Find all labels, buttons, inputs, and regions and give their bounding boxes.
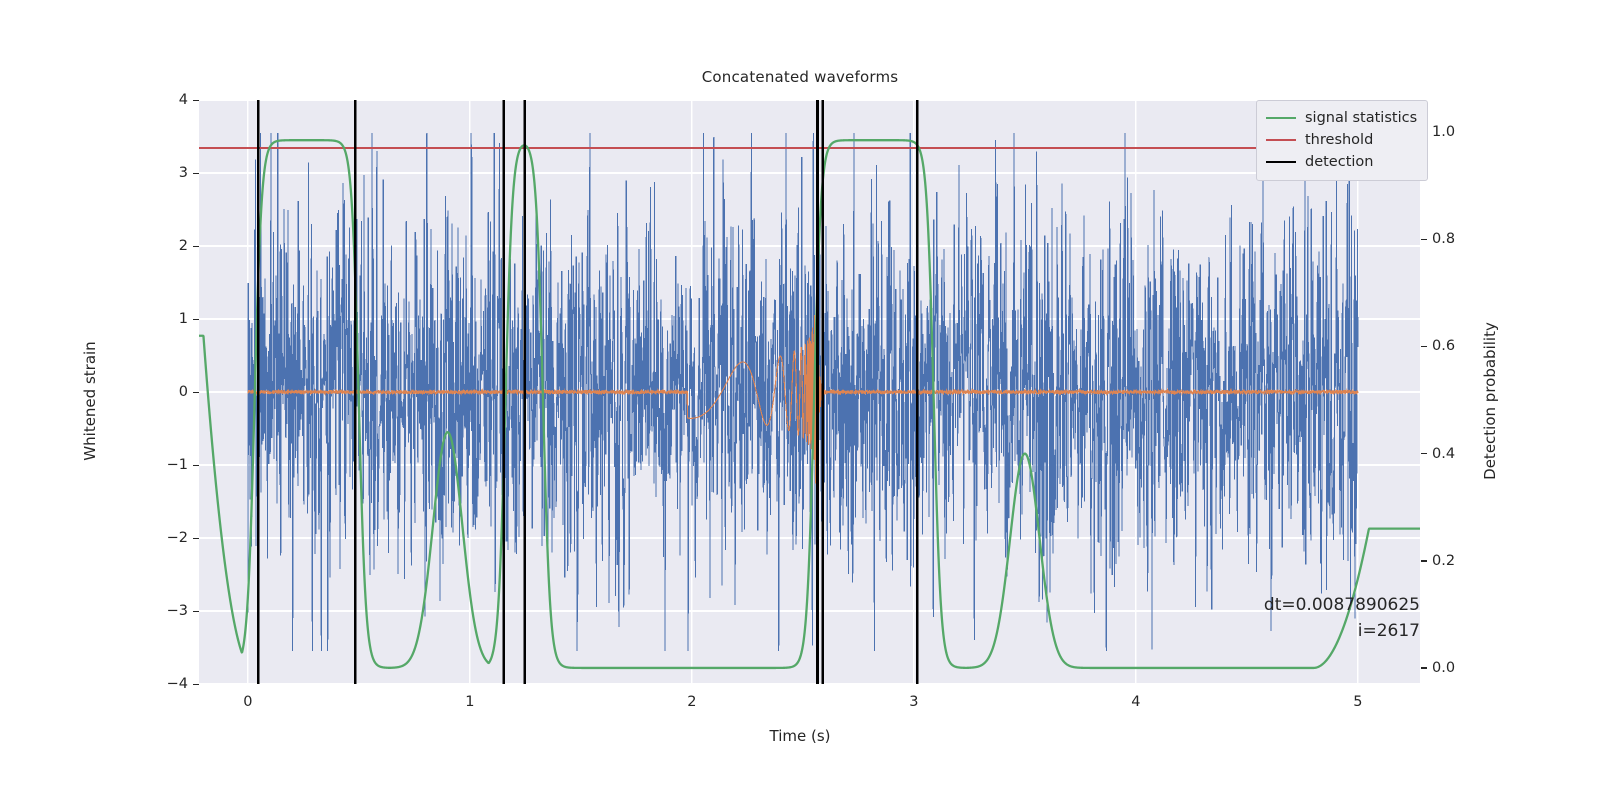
y-axis-label-right: Detection probability (1481, 251, 1499, 551)
y-tick-right-2: 0.6 (1432, 338, 1455, 354)
matplotlib-figure: Concatenated waveforms 43210−1−2−3−41.00… (0, 0, 1600, 800)
y-tickmark-left-2 (193, 246, 199, 247)
y-tick-left-8: −4 (167, 676, 188, 692)
y-tick-right-3: 0.4 (1432, 446, 1455, 462)
y-tick-right-1: 0.8 (1432, 231, 1455, 247)
legend-swatch-detection (1266, 161, 1296, 163)
y-tickmark-left-5 (193, 465, 199, 466)
x-tick-4: 4 (1131, 694, 1140, 710)
y-tickmark-left-3 (193, 319, 199, 320)
x-tick-0: 0 (243, 694, 252, 710)
annotation-dt: dt=0.0087890625 (900, 592, 1420, 618)
x-tick-2: 2 (687, 694, 696, 710)
annotation-index: i=2617 (900, 618, 1420, 644)
y-tickmark-right-4 (1421, 560, 1427, 561)
x-tick-1: 1 (465, 694, 474, 710)
y-tickmark-right-2 (1421, 346, 1427, 347)
y-tick-right-4: 0.2 (1432, 553, 1455, 569)
plot-title: Concatenated waveforms (0, 68, 1600, 86)
x-axis-label: Time (s) (0, 727, 1600, 745)
y-tickmark-left-8 (193, 684, 199, 685)
y-tickmark-right-3 (1421, 453, 1427, 454)
y-tickmark-left-1 (193, 173, 199, 174)
x-tick-3: 3 (909, 694, 918, 710)
legend-item-detection: detection (1266, 151, 1417, 173)
y-tickmark-left-0 (193, 100, 199, 101)
y-tick-left-7: −3 (167, 603, 188, 619)
legend-label-threshold: threshold (1305, 132, 1373, 148)
legend-box[interactable]: signal statistics threshold detection (1256, 100, 1428, 181)
legend-swatch-signal-statistics (1266, 117, 1296, 119)
y-tickmark-left-7 (193, 611, 199, 612)
y-tickmark-left-4 (193, 392, 199, 393)
y-tickmark-right-1 (1421, 239, 1427, 240)
y-tickmark-right-5 (1421, 667, 1427, 668)
annotation-text: dt=0.0087890625 i=2617 (900, 592, 1420, 644)
legend-item-signal-statistics: signal statistics (1266, 107, 1417, 129)
legend-label-detection: detection (1305, 154, 1373, 170)
y-tick-right-5: 0.0 (1432, 660, 1455, 676)
legend-label-signal-statistics: signal statistics (1305, 110, 1417, 126)
y-axis-label-left: Whitened strain (81, 251, 99, 551)
y-tick-left-2: 2 (179, 238, 188, 254)
y-tick-left-6: −2 (167, 530, 188, 546)
y-tick-left-1: 3 (179, 165, 188, 181)
x-tick-5: 5 (1353, 694, 1362, 710)
legend-item-threshold: threshold (1266, 129, 1417, 151)
y-tickmark-left-6 (193, 538, 199, 539)
y-tick-left-4: 0 (179, 384, 188, 400)
y-tick-right-0: 1.0 (1432, 124, 1455, 140)
y-tick-left-5: −1 (167, 457, 188, 473)
y-tick-left-3: 1 (179, 311, 188, 327)
legend-swatch-threshold (1266, 139, 1296, 141)
y-tick-left-0: 4 (179, 92, 188, 108)
